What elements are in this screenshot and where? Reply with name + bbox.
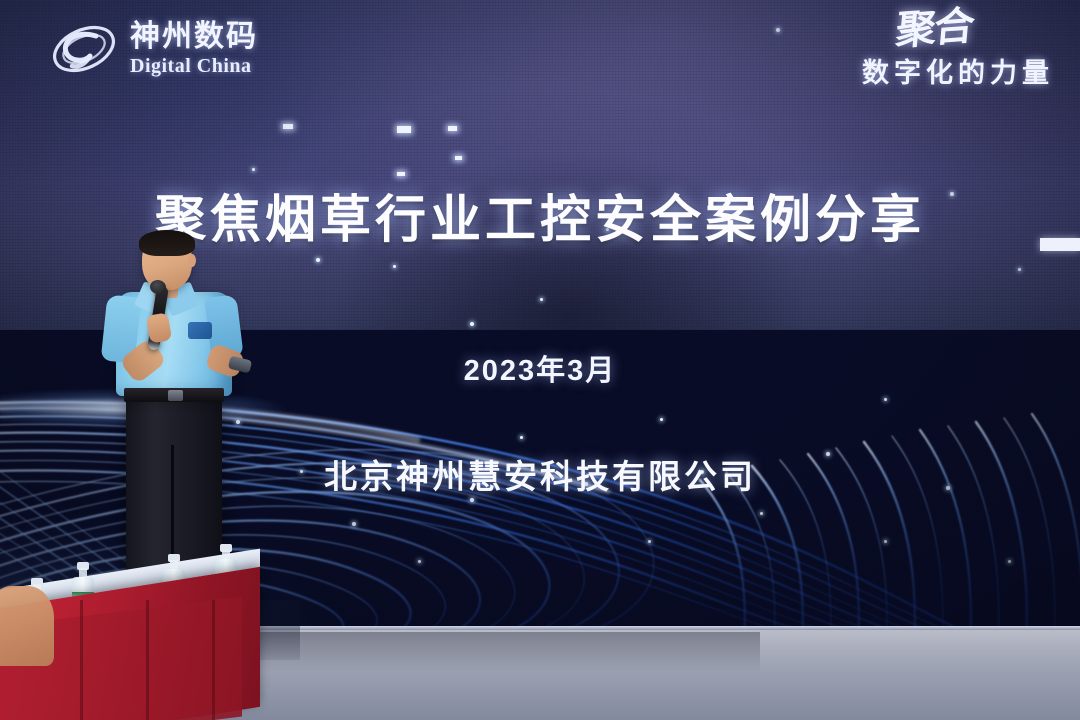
presenter-chest-logo-icon — [188, 322, 212, 339]
slogan-subtitle: 数字化的力量 — [862, 51, 1054, 90]
logo-english-text: Digital China — [130, 56, 258, 76]
table-skirt-fold — [80, 600, 83, 720]
digital-china-logo: 神州数码 Digital China — [48, 18, 258, 80]
table-skirt-fold — [146, 600, 149, 720]
event-slogan: 聚合 数字化的力量 — [862, 14, 1054, 90]
foreground-attendee — [0, 586, 54, 666]
logo-chinese-text: 神州数码 — [130, 22, 258, 52]
screen-edge-light-bar — [1040, 238, 1080, 251]
presenter-hair — [139, 230, 195, 256]
conference-stage-photo: 神州数码 Digital China 聚合 数字化的力量 聚焦烟草行业工控安全案… — [0, 0, 1080, 720]
digital-china-swirl-icon — [48, 18, 120, 80]
presenter-belt-buckle — [168, 390, 183, 401]
slogan-calligraphy: 聚合 — [860, 10, 974, 50]
presenter-ear — [188, 254, 196, 267]
table-skirt-fold — [212, 600, 215, 720]
